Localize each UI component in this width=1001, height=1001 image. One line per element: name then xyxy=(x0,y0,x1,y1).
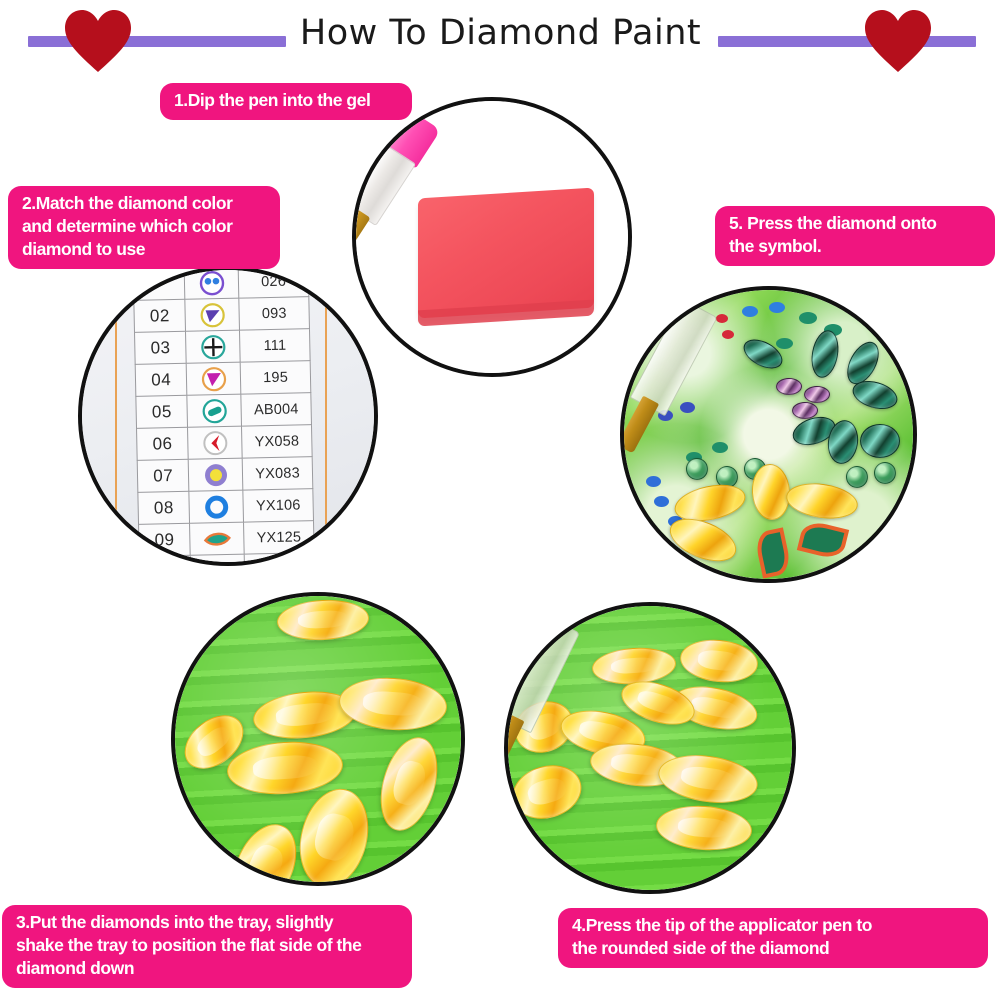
chart-number: 07 xyxy=(137,459,189,492)
color-symbol-chart: 026 02 093 03 xyxy=(133,270,316,562)
step-3-label-line-1: 3.Put the diamonds into the tray, slight… xyxy=(16,911,398,934)
canvas-symbol-dot xyxy=(769,302,785,313)
step-1-photo xyxy=(352,97,632,377)
table-row: 09 YX125 xyxy=(139,521,315,557)
gel-pad xyxy=(418,188,594,319)
step-3-label-line-3: diamond down xyxy=(16,957,398,980)
page-title: How To Diamond Paint xyxy=(0,10,1001,56)
step-4-label: 4.Press the tip of the applicator pen to… xyxy=(558,908,988,968)
chart-number: 08 xyxy=(138,491,190,524)
step-3-photo xyxy=(171,592,465,886)
chart-symbol-cell xyxy=(189,458,243,491)
canvas-diamond xyxy=(860,424,900,458)
canvas-diamond xyxy=(874,462,896,484)
step-1-label-line-1: 1.Dip the pen into the gel xyxy=(174,89,398,112)
step-1-photo-inner xyxy=(356,101,628,373)
magenta-triangle-icon xyxy=(199,363,230,394)
canvas-symbol-dot xyxy=(722,330,734,339)
step-3-photo-inner xyxy=(175,596,461,882)
canvas-symbol-dot xyxy=(776,338,793,349)
chart-symbol-cell xyxy=(185,270,239,299)
chart-guide-line-left xyxy=(115,270,117,562)
chart-guide-line-right xyxy=(325,270,327,562)
step-2-photo-inner: 026 02 093 03 xyxy=(82,270,374,562)
canvas-diamond xyxy=(776,378,802,395)
table-row: 08 YX106 xyxy=(138,489,314,525)
table-row: 04 195 xyxy=(135,361,311,397)
step-1-label: 1.Dip the pen into the gel xyxy=(160,83,412,120)
canvas-diamond xyxy=(804,386,830,403)
chart-code: 195 xyxy=(240,361,310,394)
canvas-symbol-dot xyxy=(712,442,728,453)
canvas-diamond xyxy=(686,458,708,480)
chart-code: 026 xyxy=(238,270,308,298)
header: How To Diamond Paint xyxy=(0,0,1001,78)
canvas-symbol-dot xyxy=(654,496,669,507)
chart-symbol-cell xyxy=(186,330,240,363)
canvas-symbol-dot xyxy=(680,402,695,413)
chart-code: YX083 xyxy=(242,457,312,490)
yellow-dot-ring-icon xyxy=(201,459,232,490)
table-row: 07 YX083 xyxy=(137,457,313,493)
double-dot-circle-icon xyxy=(197,270,228,298)
chart-number xyxy=(139,555,191,562)
step-2-label-line-3: diamond to use xyxy=(22,238,266,261)
step-4-label-line-2: the rounded side of the diamond xyxy=(572,937,974,960)
chart-code: YX058 xyxy=(242,425,312,458)
chart-code: YX106 xyxy=(243,489,313,522)
step-5-label-line-2: the symbol. xyxy=(729,235,981,258)
step-4-photo-inner xyxy=(508,606,792,890)
step-5-label: 5. Press the diamond onto the symbol. xyxy=(715,206,995,266)
chart-symbol-cell xyxy=(187,394,241,427)
chart-code: 111 xyxy=(240,329,310,362)
step-3-label-line-2: shake the tray to position the flat side… xyxy=(16,934,398,957)
chart-code xyxy=(244,553,314,562)
chart-symbol-cell xyxy=(188,426,242,459)
step-2-label: 2.Match the diamond color and determine … xyxy=(8,186,280,269)
infographic-root: How To Diamond Paint 1.Dip the pen into … xyxy=(0,0,1001,1001)
canvas-symbol-dot xyxy=(716,314,728,323)
teal-bar-circle-icon xyxy=(199,395,230,426)
chart-number xyxy=(133,270,185,300)
step-5-photo xyxy=(620,286,917,583)
step-5-photo-inner xyxy=(624,290,913,579)
table-row: 06 YX058 xyxy=(137,425,313,461)
plus-circle-icon xyxy=(198,331,229,362)
chart-number: 05 xyxy=(136,395,188,428)
chart-number: 02 xyxy=(134,299,186,332)
canvas-symbol-dot xyxy=(742,306,758,317)
teal-leaf-icon xyxy=(203,555,234,562)
blue-ring-icon xyxy=(201,491,232,522)
step-4-label-line-1: 4.Press the tip of the applicator pen to xyxy=(572,914,974,937)
chart-symbol-cell xyxy=(189,490,243,523)
chart-code: 093 xyxy=(239,297,309,330)
canvas-diamond xyxy=(846,466,868,488)
chart-symbol-cell xyxy=(191,554,245,562)
step-2-label-line-2: and determine which color xyxy=(22,215,266,238)
chart-symbol-cell xyxy=(187,362,241,395)
canvas-symbol-dot xyxy=(646,476,661,487)
table-row: 026 xyxy=(133,270,309,300)
table-row: 02 093 xyxy=(134,297,310,333)
chart-symbol-cell xyxy=(190,522,244,555)
chart-number: 09 xyxy=(139,523,191,556)
chart-number: 04 xyxy=(135,363,187,396)
chart-number: 06 xyxy=(137,427,189,460)
table-row: 05 AB004 xyxy=(136,393,312,429)
chart-code: YX125 xyxy=(244,521,314,554)
step-2-label-line-1: 2.Match the diamond color xyxy=(22,192,266,215)
chart-number: 03 xyxy=(135,331,187,364)
filled-triangle-icon xyxy=(197,299,228,330)
step-3-label: 3.Put the diamonds into the tray, slight… xyxy=(2,905,412,988)
table-row: 03 111 xyxy=(135,329,311,365)
step-5-label-line-1: 5. Press the diamond onto xyxy=(729,212,981,235)
left-chevron-icon xyxy=(200,427,231,458)
canvas-symbol-dot xyxy=(799,312,817,324)
chart-code: AB004 xyxy=(241,393,311,426)
teal-leaf-icon xyxy=(202,523,233,554)
step-4-photo xyxy=(504,602,796,894)
chart-symbol-cell xyxy=(185,298,239,331)
step-2-photo: 026 02 093 03 xyxy=(78,266,378,566)
